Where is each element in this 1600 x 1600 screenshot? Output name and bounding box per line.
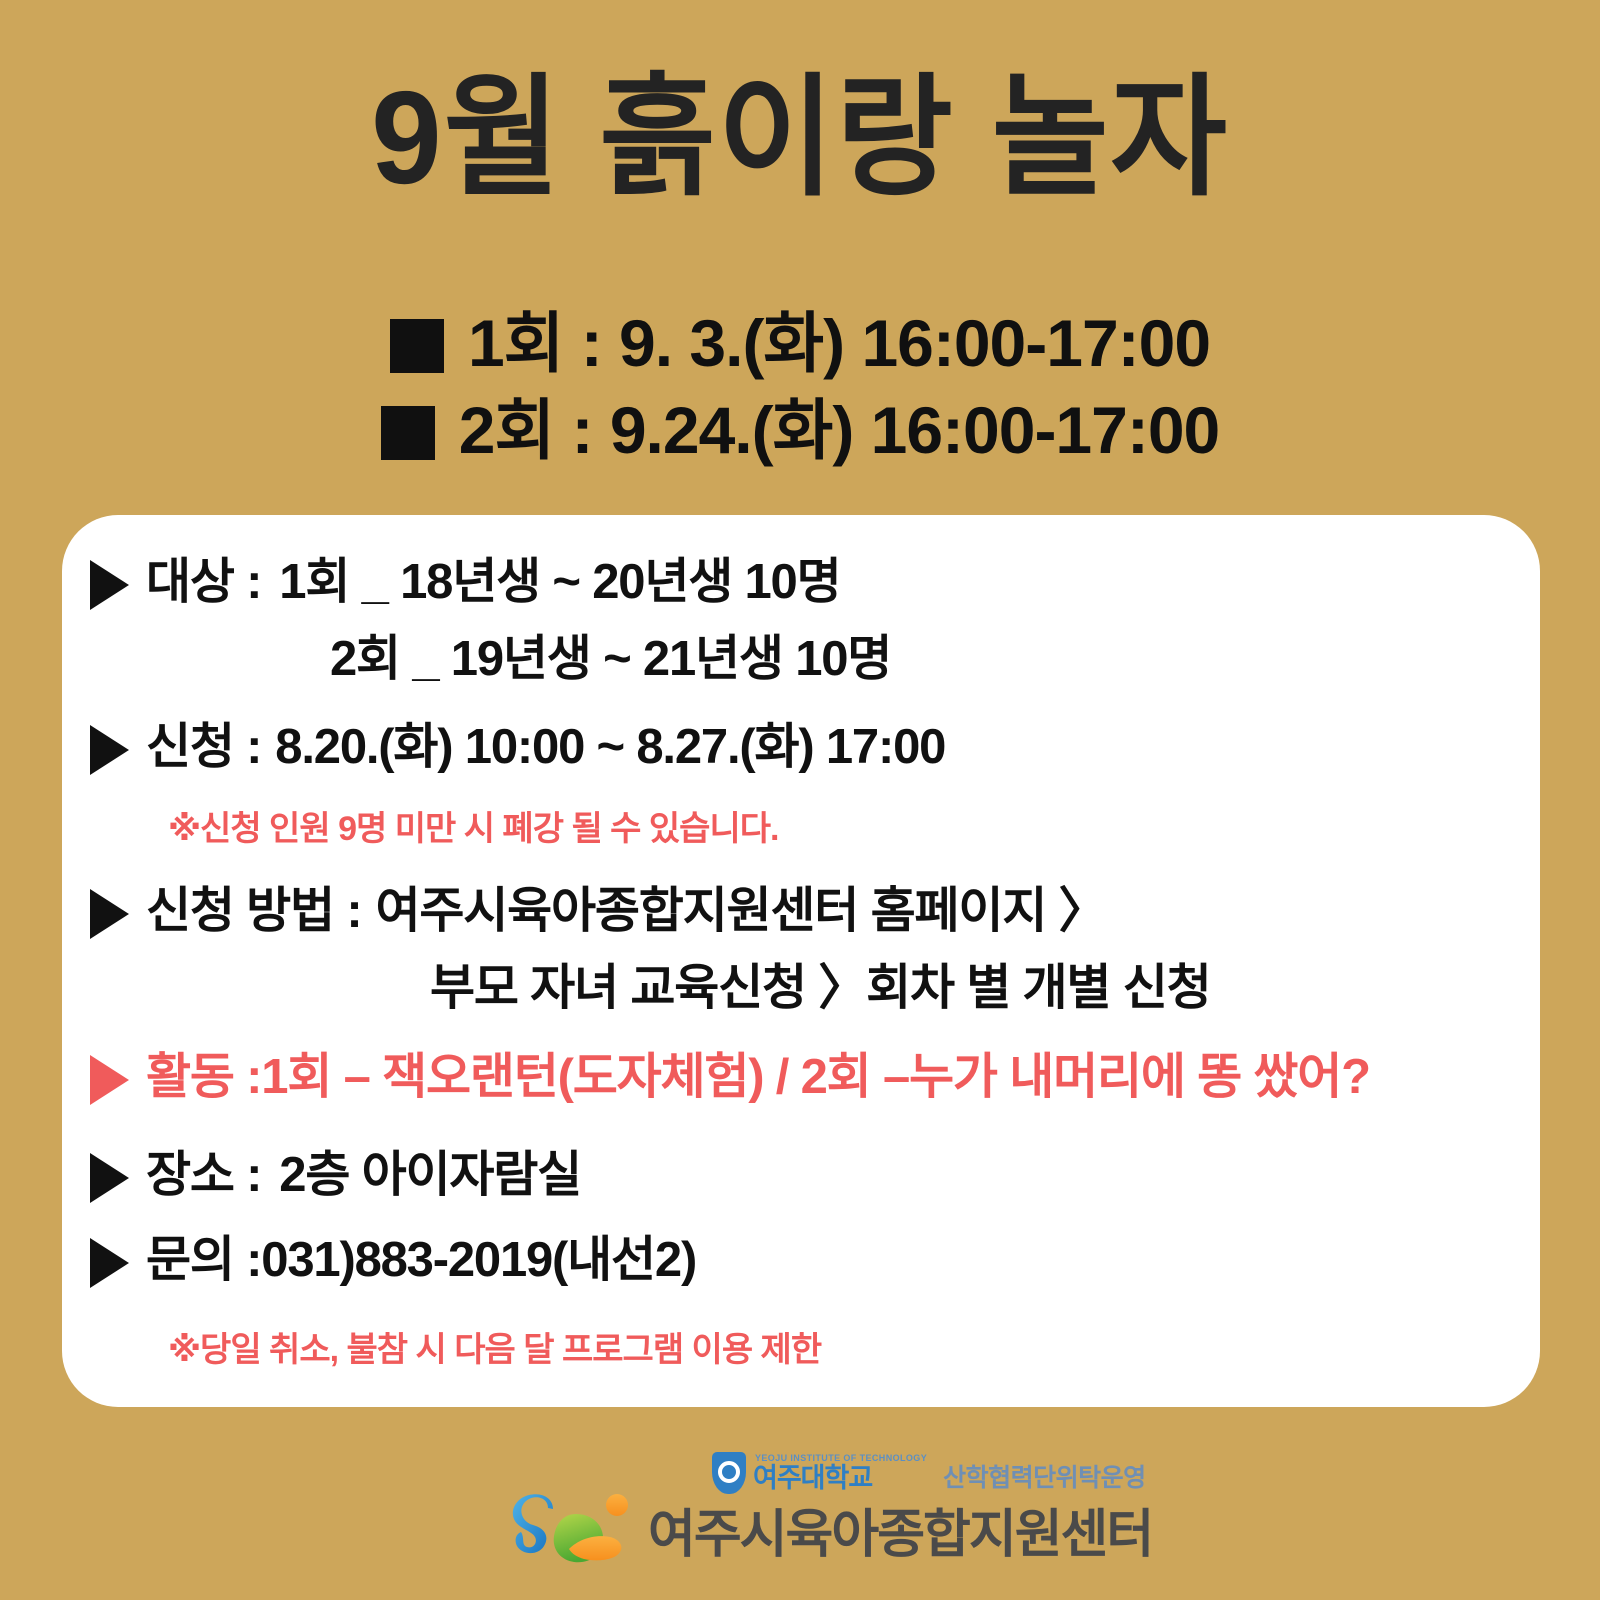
university-korean-name: 여주대학교 [753, 1465, 927, 1492]
apply-warning-note: ※신청 인원 9명 미만 시 폐강 될 수 있습니다. [90, 801, 1520, 850]
row-apply-label: 신청 : [146, 716, 261, 779]
row-place-label: 장소 : [146, 1144, 261, 1207]
row-contact-label: 문의 : [146, 1229, 261, 1292]
row-activity-label: 활동 : [146, 1046, 261, 1109]
triangle-bullet-icon [90, 889, 129, 939]
center-logo-row: 여주시육아종합지원센터 [506, 1492, 1152, 1578]
row-method: 신청 방법 : 여주시육아종합지원센터 홈페이지 〉 [90, 880, 1520, 943]
row-target-value-1: 1회 _ 18년생 ~ 20년생 10명 [279, 551, 840, 614]
page-title: 9월 흙이랑 놀자 [32, 72, 1568, 204]
university-logo-row: YEOJU INSTITUTE OF TECHNOLOGY 여주대학교 산학협력… [712, 1452, 1146, 1494]
cancel-policy-note: ※당일 취소, 불참 시 다음 달 프로그램 이용 제한 [90, 1322, 1520, 1371]
schedule-list: 1회 : 9. 3.(화) 16:00-17:00 2회 : 9.24.(화) … [0, 300, 1600, 474]
row-activity-value: 1회 – 잭오랜턴(도자체험) / 2회 –누가 내머리에 똥 쌌어? [261, 1046, 1370, 1109]
center-name: 여주시육아종합지원센터 [648, 1509, 1152, 1561]
triangle-bullet-icon [90, 1055, 129, 1105]
schedule-row-2: 2회 : 9.24.(화) 16:00-17:00 [0, 387, 1600, 474]
row-method-value-2: 부모 자녀 교육신청 〉회차 별 개별 신청 [90, 957, 1520, 1020]
info-rows: 대상 : 1회 _ 18년생 ~ 20년생 10명 2회 _ 19년생 ~ 21… [90, 551, 1520, 1371]
university-english-name: YEOJU INSTITUTE OF TECHNOLOGY [755, 1454, 927, 1463]
poster-root: 9월 흙이랑 놀자 1회 : 9. 3.(화) 16:00-17:00 2회 :… [0, 0, 1600, 1600]
soi-swirl-logo-icon [506, 1492, 634, 1578]
triangle-bullet-icon [90, 560, 129, 610]
row-activity: 활동 : 1회 – 잭오랜턴(도자체험) / 2회 –누가 내머리에 똥 쌌어? [90, 1046, 1520, 1109]
schedule-row-2-text: 2회 : 9.24.(화) 16:00-17:00 [459, 387, 1219, 474]
footer: YEOJU INSTITUTE OF TECHNOLOGY 여주대학교 산학협력… [0, 1440, 1600, 1600]
row-contact-value: 031)883-2019(내선2) [261, 1229, 696, 1292]
triangle-bullet-icon [90, 1153, 129, 1203]
consignment-label: 산학협력단위탁운영 [943, 1466, 1146, 1491]
triangle-bullet-icon [90, 725, 129, 775]
triangle-bullet-icon [90, 1238, 129, 1288]
row-contact: 문의 : 031)883-2019(내선2) [90, 1229, 1520, 1292]
row-target: 대상 : 1회 _ 18년생 ~ 20년생 10명 [90, 551, 1520, 614]
row-place-value: 2층 아이자람실 [279, 1144, 581, 1207]
row-apply: 신청 : 8.20.(화) 10:00 ~ 8.27.(화) 17:00 [90, 716, 1520, 779]
info-card: 대상 : 1회 _ 18년생 ~ 20년생 10명 2회 _ 19년생 ~ 21… [62, 515, 1540, 1407]
row-method-label: 신청 방법 : [146, 880, 361, 943]
schedule-row-1: 1회 : 9. 3.(화) 16:00-17:00 [0, 300, 1600, 387]
square-bullet-icon [390, 319, 444, 373]
square-bullet-icon [381, 406, 435, 460]
schedule-row-1-text: 1회 : 9. 3.(화) 16:00-17:00 [468, 300, 1210, 387]
row-apply-value: 8.20.(화) 10:00 ~ 8.27.(화) 17:00 [275, 716, 945, 779]
row-target-value-2: 2회 _ 19년생 ~ 21년생 10명 [90, 628, 1520, 691]
university-text-block: YEOJU INSTITUTE OF TECHNOLOGY 여주대학교 [753, 1454, 927, 1492]
row-place: 장소 : 2층 아이자람실 [90, 1144, 1520, 1207]
yeoju-university-shield-icon [712, 1452, 746, 1494]
row-method-value-1: 여주시육아종합지원센터 홈페이지 〉 [375, 880, 1106, 943]
row-target-label: 대상 : [146, 551, 261, 614]
